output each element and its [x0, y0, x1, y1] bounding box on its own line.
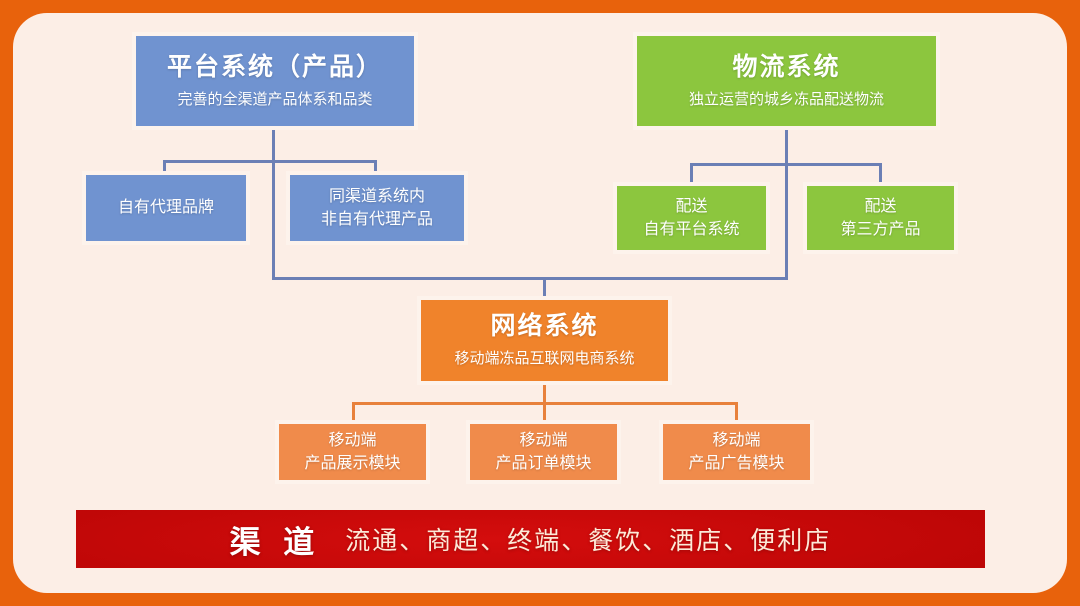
channel-banner-label: 渠 道	[230, 517, 322, 562]
node-title: 平台系统（产品）	[167, 53, 383, 81]
node-line-1: 配送	[864, 195, 896, 218]
node-network-child-1[interactable]: 移动端 产品展示模块	[275, 420, 430, 484]
channel-banner-items: 流通、商超、终端、餐饮、酒店、便利店	[345, 521, 831, 557]
connector-platform-stem	[272, 130, 275, 280]
node-line-2: 非自有代理产品	[321, 208, 433, 231]
node-network-child-3[interactable]: 移动端 产品广告模块	[659, 420, 814, 484]
node-logistics-child-2[interactable]: 配送 第三方产品	[803, 182, 958, 254]
node-line-2: 产品广告模块	[688, 452, 784, 475]
node-logistics-child-1[interactable]: 配送 自有平台系统	[613, 182, 770, 254]
node-subtitle: 完善的全渠道产品体系和品类	[177, 90, 372, 110]
connector-network-child2	[543, 402, 546, 420]
node-line-1: 自有代理品牌	[118, 196, 214, 219]
connector-merge-bus	[272, 277, 788, 280]
connector-network-drop	[543, 277, 546, 297]
node-network-system[interactable]: 网络系统 移动端冻品互联网电商系统	[417, 296, 672, 385]
connector-logistics-child1	[690, 163, 693, 182]
connector-platform-bus	[163, 160, 377, 163]
connector-network-child1	[352, 402, 355, 420]
node-line-1: 移动端	[519, 429, 567, 452]
node-line-2: 产品展示模块	[304, 452, 400, 475]
connector-network-child3	[735, 402, 738, 420]
node-line-1: 移动端	[712, 429, 760, 452]
node-line-1: 同渠道系统内	[329, 185, 425, 208]
node-logistics-system[interactable]: 物流系统 独立运营的城乡冻品配送物流	[633, 32, 940, 130]
node-platform-child-2[interactable]: 同渠道系统内 非自有代理产品	[286, 171, 468, 245]
node-line-2: 产品订单模块	[495, 452, 591, 475]
node-line-1: 配送	[675, 195, 707, 218]
node-line-2: 自有平台系统	[643, 218, 739, 241]
node-subtitle: 移动端冻品互联网电商系统	[454, 349, 634, 369]
node-line-2: 第三方产品	[840, 218, 920, 241]
node-network-child-2[interactable]: 移动端 产品订单模块	[466, 420, 621, 484]
node-line-1: 移动端	[328, 429, 376, 452]
node-platform-system[interactable]: 平台系统（产品） 完善的全渠道产品体系和品类	[132, 32, 418, 130]
channel-banner: 渠 道 流通、商超、终端、餐饮、酒店、便利店	[76, 510, 985, 568]
node-subtitle: 独立运营的城乡冻品配送物流	[689, 90, 884, 110]
connector-logistics-bus	[690, 163, 882, 166]
node-platform-child-1[interactable]: 自有代理品牌	[82, 171, 250, 245]
node-title: 物流系统	[732, 53, 840, 81]
connector-logistics-stem	[785, 130, 788, 280]
node-title: 网络系统	[490, 312, 598, 340]
diagram-canvas: 平台系统（产品） 完善的全渠道产品体系和品类 自有代理品牌 同渠道系统内 非自有…	[0, 0, 1080, 606]
connector-logistics-child2	[879, 163, 882, 182]
